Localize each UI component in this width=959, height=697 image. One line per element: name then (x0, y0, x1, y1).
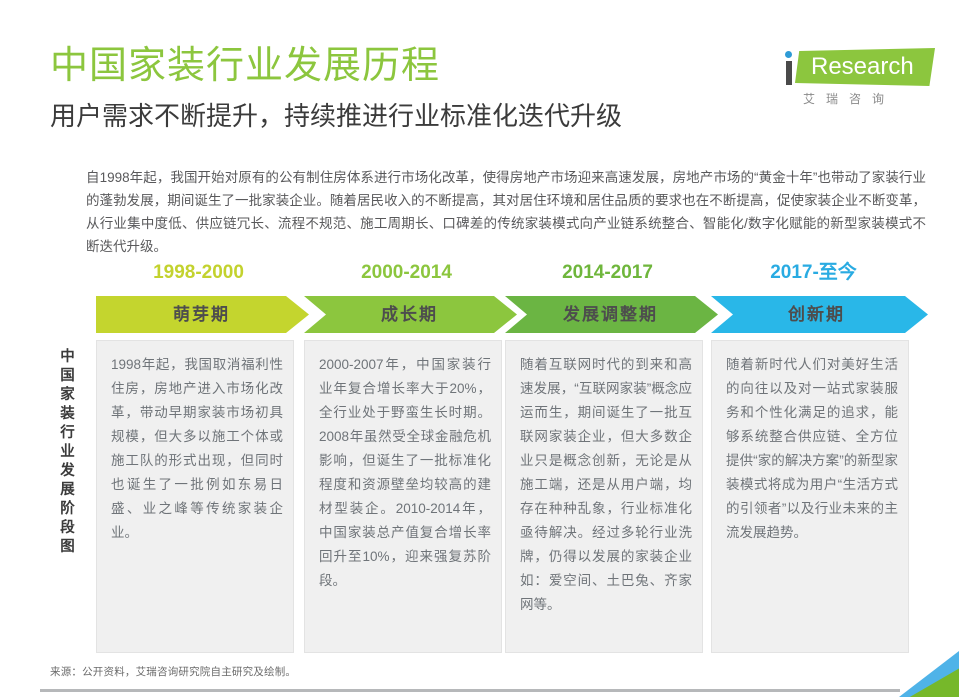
stage-year-label: 2000-2014 (304, 262, 509, 284)
timeline: 1998-2000 萌芽期 1998年起，我国取消福利性住房，房地产进入市场化改… (96, 262, 928, 657)
timeline-stage-4: 2017-至今 创新期 随着新时代人们对美好生活的向往以及对一站式家装服务和个性… (711, 262, 916, 657)
stage-arrow-banner: 发展调整期 (505, 296, 718, 333)
stage-name-label: 成长期 (322, 296, 497, 333)
stage-description-panel: 随着新时代人们对美好生活的向往以及对一站式家装服务和个性化满足的追求，能够系统整… (711, 340, 909, 653)
logo-i-stem-icon (786, 61, 792, 85)
stage-name-label: 创新期 (729, 296, 904, 333)
vertical-chart-label: 中国家装行业发展阶段图 (55, 348, 81, 648)
stage-description-panel: 随着互联网时代的到来和高速发展，“互联网家装”概念应运而生，期间诞生了一批互联网… (505, 340, 703, 653)
corner-decoration (899, 651, 959, 697)
stage-description-text: 随着互联网时代的到来和高速发展，“互联网家装”概念应运而生，期间诞生了一批互联网… (520, 353, 692, 617)
logo-wordmark: Research (811, 54, 914, 80)
stage-arrow-banner: 成长期 (304, 296, 517, 333)
stage-arrow-banner: 创新期 (711, 296, 928, 333)
page-title: 中国家装行业发展历程 (50, 47, 440, 85)
stage-description-text: 2000-2007年，中国家装行业年复合增长率大于20%，全行业处于野蛮生长时期… (319, 353, 491, 593)
stage-description-text: 1998年起，我国取消福利性住房，房地产进入市场化改革，带动早期家装市场初具规模… (111, 353, 283, 545)
timeline-stage-2: 2000-2014 成长期 2000-2007年，中国家装行业年复合增长率大于2… (304, 262, 509, 657)
iresearch-logo: Research 艾瑞咨询 (777, 48, 937, 110)
stage-arrow-banner: 萌芽期 (96, 296, 309, 333)
stage-name-label: 萌芽期 (114, 296, 289, 333)
stage-year-label: 1998-2000 (96, 262, 301, 284)
page-subtitle: 用户需求不断提升，持续推进行业标准化迭代升级 (50, 103, 622, 129)
stage-year-label: 2017-至今 (711, 262, 916, 284)
stage-name-label: 发展调整期 (523, 296, 698, 333)
logo-i-dot-icon (785, 51, 792, 58)
timeline-stage-3: 2014-2017 发展调整期 随着互联网时代的到来和高速发展，“互联网家装”概… (505, 262, 710, 657)
stage-description-panel: 1998年起，我国取消福利性住房，房地产进入市场化改革，带动早期家装市场初具规模… (96, 340, 294, 653)
timeline-stage-1: 1998-2000 萌芽期 1998年起，我国取消福利性住房，房地产进入市场化改… (96, 262, 301, 657)
stage-year-label: 2014-2017 (505, 262, 710, 284)
stage-description-panel: 2000-2007年，中国家装行业年复合增长率大于20%，全行业处于野蛮生长时期… (304, 340, 502, 653)
logo-chinese-name: 艾瑞咨询 (803, 90, 895, 107)
footer-divider (40, 689, 900, 692)
stage-description-text: 随着新时代人们对美好生活的向往以及对一站式家装服务和个性化满足的追求，能够系统整… (726, 353, 898, 545)
source-note: 来源：公开资料，艾瑞咨询研究院自主研究及绘制。 (50, 664, 296, 679)
intro-paragraph: 自1998年起，我国开始对原有的公有制住房体系进行市场化改革，使得房地产市场迎来… (86, 166, 926, 258)
